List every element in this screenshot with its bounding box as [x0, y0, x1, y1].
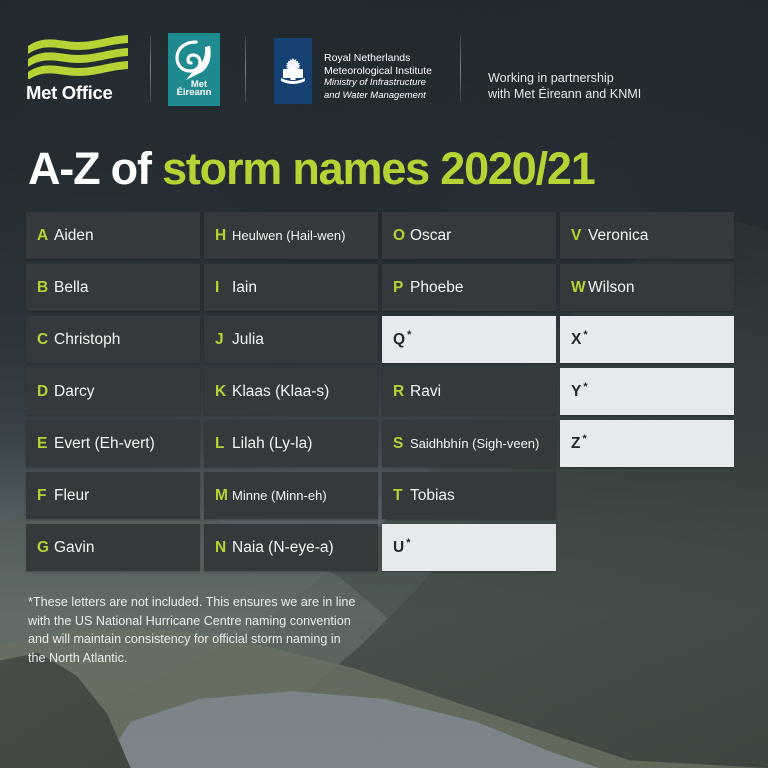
cell-storm-name: Klaas (Klaa-s)	[232, 383, 329, 401]
cell-letter: I	[215, 279, 232, 297]
knmi-line-1: Royal Netherlands	[324, 52, 432, 65]
cell-storm-name: Fleur	[54, 487, 89, 505]
knmi-line-2: Meteorological Institute	[324, 65, 432, 78]
cell-letter: Z	[571, 435, 580, 453]
cell-asterisk: *	[582, 433, 586, 445]
cell-storm-name: Lilah (Ly-la)	[232, 435, 312, 453]
storm-name-cell-v: VVeronica	[560, 212, 734, 259]
header-divider-2	[245, 36, 246, 102]
cell-storm-name: Ravi	[410, 383, 441, 401]
cell-storm-name: Gavin	[54, 539, 95, 557]
page-title: A-Z of storm names 2020/21	[28, 143, 595, 195]
storm-name-cell-a: AAiden	[26, 212, 200, 259]
storm-name-cell-i: IIain	[204, 264, 378, 311]
storm-name-cell-r: RRavi	[382, 368, 556, 415]
met-eireann-spiral-icon	[172, 36, 216, 82]
cell-asterisk: *	[406, 537, 410, 549]
knmi-blue-bar	[274, 38, 312, 104]
partnership-line-2: with Met Éireann and KNMI	[488, 87, 641, 103]
storm-name-cell-y: Y*	[560, 368, 734, 415]
cell-storm-name: Aiden	[54, 227, 94, 245]
cell-storm-name: Bella	[54, 279, 88, 297]
cell-storm-name: Heulwen (Hail-wen)	[232, 228, 345, 243]
storm-name-cell-t: TTobias	[382, 472, 556, 519]
storm-name-cell-w: WWilson	[560, 264, 734, 311]
cell-letter: K	[215, 383, 232, 401]
cell-letter: Q	[393, 331, 405, 349]
cell-letter: F	[37, 487, 54, 505]
cell-letter: Y	[571, 383, 581, 401]
storm-names-column-2: HHeulwen (Hail-wen)IIainJJuliaKKlaas (Kl…	[204, 212, 378, 576]
storm-name-cell-q: Q*	[382, 316, 556, 363]
cell-storm-name: Oscar	[410, 227, 451, 245]
header: Met Office Met Éireann Royal Ne	[0, 0, 768, 130]
cell-letter: N	[215, 539, 232, 557]
met-office-waves-icon	[26, 33, 130, 79]
title-white-part: A-Z of	[28, 143, 162, 194]
storm-name-cell-b: BBella	[26, 264, 200, 311]
storm-name-cell-l: LLilah (Ly-la)	[204, 420, 378, 467]
knmi-text-block: Royal Netherlands Meteorological Institu…	[324, 38, 432, 104]
cell-asterisk: *	[583, 329, 587, 341]
cell-letter: O	[393, 227, 410, 245]
cell-letter: J	[215, 331, 232, 349]
storm-name-cell-n: NNaia (N-eye-a)	[204, 524, 378, 571]
cell-letter: W	[571, 279, 588, 297]
partnership-text: Working in partnership with Met Éireann …	[488, 71, 641, 102]
met-eireann-wordmark-line2: Éireann	[168, 88, 220, 98]
cell-letter: D	[37, 383, 54, 401]
cell-storm-name: Phoebe	[410, 279, 463, 297]
met-eireann-logo: Met Éireann	[168, 33, 220, 106]
knmi-logo: Royal Netherlands Meteorological Institu…	[274, 38, 432, 104]
cell-storm-name: Julia	[232, 331, 264, 349]
cell-storm-name: Naia (N-eye-a)	[232, 539, 334, 557]
storm-name-cell-u: U*	[382, 524, 556, 571]
storm-name-cell-f: FFleur	[26, 472, 200, 519]
cell-letter: M	[215, 487, 232, 505]
storm-name-cell-z: Z*	[560, 420, 734, 467]
cell-letter: P	[393, 279, 410, 297]
storm-names-infographic: Met Office Met Éireann Royal Ne	[0, 0, 768, 768]
storm-name-cell-m: MMinne (Minn-eh)	[204, 472, 378, 519]
cell-letter: B	[37, 279, 54, 297]
storm-name-cell-o: OOscar	[382, 212, 556, 259]
storm-name-cell-d: DDarcy	[26, 368, 200, 415]
storm-names-column-3: OOscarPPhoebeQ*RRaviSSaidhbhín (Sigh-vee…	[382, 212, 556, 576]
knmi-line-4: and Water Management	[324, 90, 432, 103]
storm-name-cell-j: JJulia	[204, 316, 378, 363]
cell-letter: A	[37, 227, 54, 245]
storm-name-cell-h: HHeulwen (Hail-wen)	[204, 212, 378, 259]
storm-name-cell-k: KKlaas (Klaa-s)	[204, 368, 378, 415]
storm-name-cell-c: CChristoph	[26, 316, 200, 363]
storm-names-column-1: AAidenBBellaCChristophDDarcyEEvert (Eh-v…	[26, 212, 200, 576]
cell-letter: U	[393, 539, 404, 557]
cell-letter: H	[215, 227, 232, 245]
cell-letter: X	[571, 331, 581, 349]
cell-letter: C	[37, 331, 54, 349]
cell-storm-name: Saidhbhín (Sigh-veen)	[410, 436, 539, 451]
netherlands-coat-of-arms-icon	[278, 56, 308, 86]
cell-storm-name: Wilson	[588, 279, 635, 297]
cell-letter: S	[393, 435, 410, 453]
cell-storm-name: Iain	[232, 279, 257, 297]
cell-letter: R	[393, 383, 410, 401]
cell-storm-name: Tobias	[410, 487, 455, 505]
cell-letter: V	[571, 227, 588, 245]
cell-storm-name: Darcy	[54, 383, 94, 401]
footnote: *These letters are not included. This en…	[28, 593, 358, 667]
header-divider-1	[150, 36, 151, 102]
cell-storm-name: Veronica	[588, 227, 648, 245]
cell-asterisk: *	[583, 381, 587, 393]
cell-asterisk: *	[407, 329, 411, 341]
header-divider-3	[460, 36, 461, 102]
cell-letter: L	[215, 435, 232, 453]
cell-letter: T	[393, 487, 410, 505]
cell-storm-name: Evert (Eh-vert)	[54, 435, 155, 453]
met-office-wordmark: Met Office	[26, 82, 130, 104]
storm-name-cell-g: GGavin	[26, 524, 200, 571]
storm-names-column-4: VVeronicaWWilsonX*Y*Z*	[560, 212, 734, 472]
cell-letter: G	[37, 539, 54, 557]
storm-name-cell-p: PPhoebe	[382, 264, 556, 311]
partnership-line-1: Working in partnership	[488, 71, 641, 87]
title-green-part: storm names 2020/21	[162, 143, 594, 194]
met-office-logo: Met Office	[26, 33, 130, 109]
cell-letter: E	[37, 435, 54, 453]
cell-storm-name: Minne (Minn-eh)	[232, 488, 327, 503]
storm-name-cell-e: EEvert (Eh-vert)	[26, 420, 200, 467]
knmi-line-3: Ministry of Infrastructure	[324, 77, 432, 90]
cell-storm-name: Christoph	[54, 331, 120, 349]
storm-name-cell-s: SSaidhbhín (Sigh-veen)	[382, 420, 556, 467]
storm-name-cell-x: X*	[560, 316, 734, 363]
